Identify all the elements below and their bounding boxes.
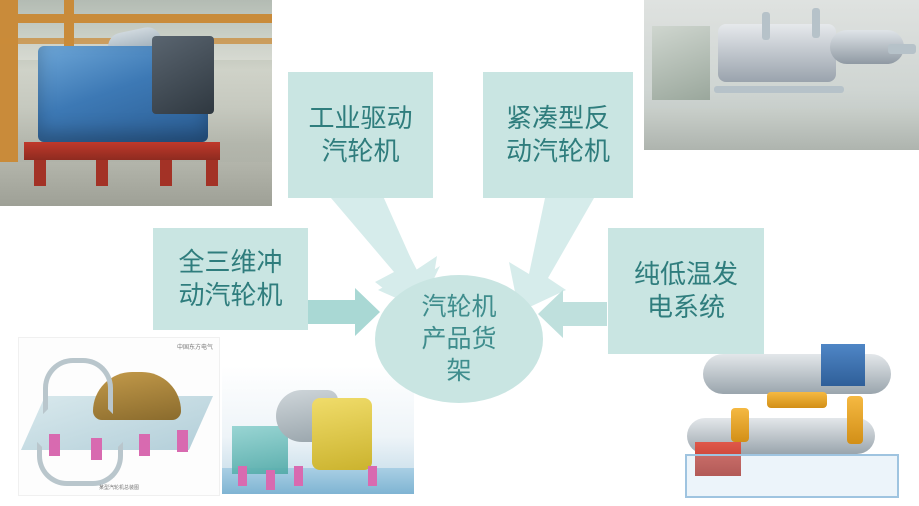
cad-exhaust-pipe <box>43 358 113 414</box>
photo-turbine-assembly-model <box>222 366 414 494</box>
turbine-generator-dark <box>152 36 214 114</box>
base-leg <box>96 160 108 186</box>
photo-orc-power-unit-model <box>671 336 911 506</box>
node-compact-reaction-turbine[interactable]: 紧凑型反 动汽轮机 <box>483 72 633 198</box>
node-low-temperature-power-system[interactable]: 纯低温发 电系统 <box>608 228 764 354</box>
render-base-platform <box>644 108 919 150</box>
orc-orange-riser <box>731 408 749 442</box>
node-3d-impulse-turbine[interactable]: 全三维冲 动汽轮机 <box>153 228 308 330</box>
cad-caption: 某型汽轮机总装图 <box>99 484 139 491</box>
model-support <box>238 466 247 486</box>
model-yellow-casing <box>312 398 372 470</box>
orc-orange-pipe <box>767 392 827 408</box>
render-pipe <box>714 86 844 93</box>
crane-beam <box>0 14 272 23</box>
node-3d-impulse-turbine-label: 全三维冲 动汽轮机 <box>178 246 282 313</box>
cad-vendor-logo: 中国东方电气 <box>177 342 213 351</box>
node-low-temperature-power-system-label: 纯低温发 电系统 <box>634 258 738 325</box>
model-support <box>266 470 275 490</box>
model-support <box>294 466 303 486</box>
arrow-impulse-to-center-shape <box>306 288 380 336</box>
photo-impulse-turbine-cad: 中国东方电气 某型汽轮机总装图 <box>18 337 220 496</box>
orc-blue-module <box>821 344 865 386</box>
cad-support <box>177 430 188 452</box>
render-riser-pipe <box>762 12 770 40</box>
turbine-base-frame <box>24 142 220 160</box>
render-riser-pipe <box>812 8 820 38</box>
node-industrial-drive-turbine-label: 工业驱动 汽轮机 <box>308 102 412 169</box>
cad-support <box>139 434 150 456</box>
render-control-cabinet <box>652 26 710 100</box>
orc-skid-frame <box>685 454 899 498</box>
arrow-compact-to-center-shape <box>509 198 594 312</box>
photo-industrial-turbine-factory <box>0 0 272 206</box>
orc-orange-riser <box>847 396 863 444</box>
node-compact-reaction-turbine-label: 紧凑型反 动汽轮机 <box>506 102 610 169</box>
base-leg <box>206 160 218 186</box>
base-leg <box>160 160 172 186</box>
model-support <box>368 466 377 486</box>
render-outlet-pipe <box>888 44 916 54</box>
photo-compact-turbine-render <box>644 0 919 150</box>
node-center-turbine-product-shelf-label: 汽轮机 产品货 架 <box>421 291 496 387</box>
node-industrial-drive-turbine[interactable]: 工业驱动 汽轮机 <box>288 72 433 198</box>
base-leg <box>34 160 46 186</box>
node-center-turbine-product-shelf[interactable]: 汽轮机 产品货 架 <box>375 275 543 403</box>
cad-support <box>49 434 60 456</box>
cad-support <box>91 438 102 460</box>
arrow-orc-to-center-shape <box>538 290 607 338</box>
